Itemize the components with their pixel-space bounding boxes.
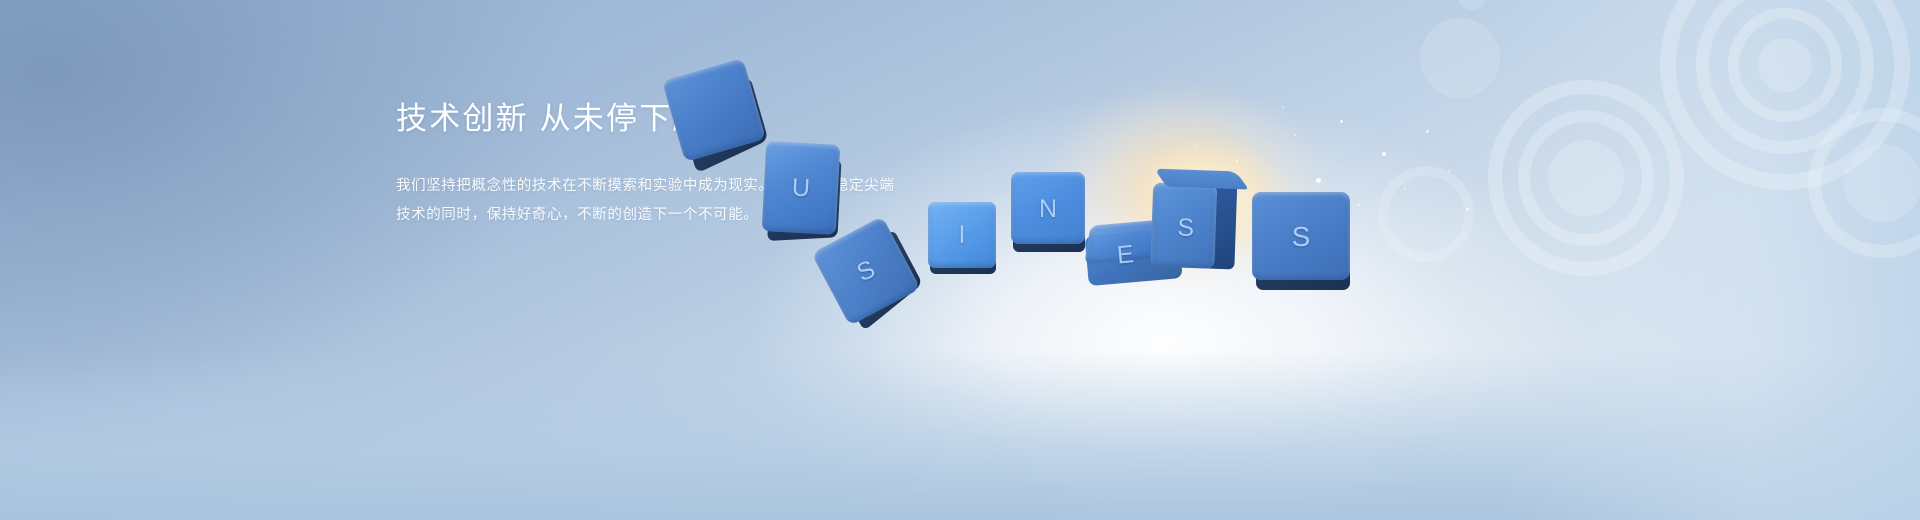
keycap-i[interactable]: I — [928, 202, 996, 274]
keycap-i-label: I — [928, 196, 996, 274]
keycap-blank[interactable] — [662, 58, 766, 162]
keycap-s-2-label: S — [1136, 184, 1235, 271]
hero-banner: 技术创新 从未停下脚步 我们坚持把概念性的技术在不断摸索和实验中成为现实。追求应… — [0, 0, 1920, 520]
keycap-u[interactable]: U — [762, 141, 841, 235]
keycap-s-2[interactable]: S — [1150, 169, 1235, 272]
keycap-u-label: U — [762, 141, 841, 235]
keycap-cluster: U S I N — [0, 0, 1920, 520]
keycap-s-3-label: S — [1252, 184, 1350, 290]
keycap-s-3[interactable]: S — [1252, 192, 1350, 290]
